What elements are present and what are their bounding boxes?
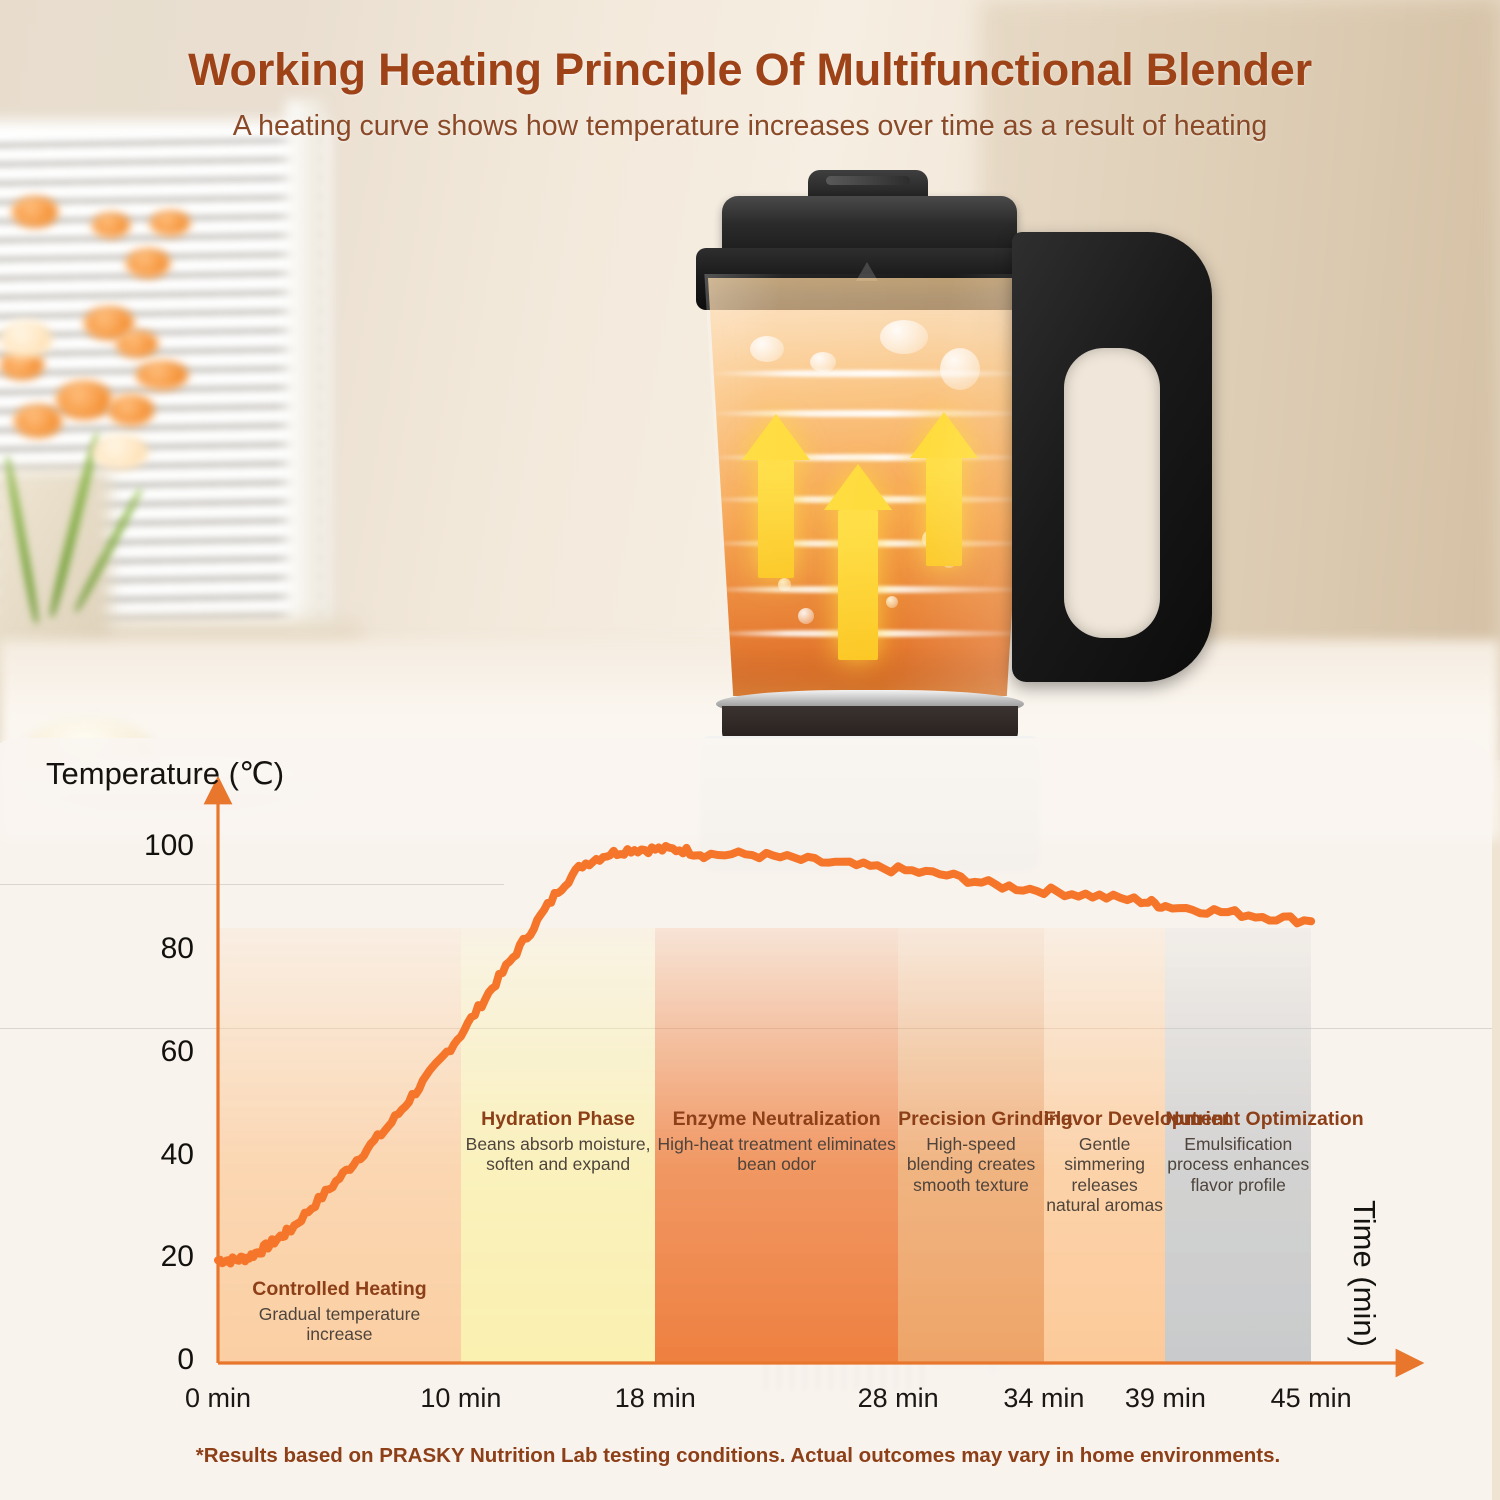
footnote: *Results based on PRASKY Nutrition Lab t… (0, 1444, 1492, 1468)
x-tick-label: 0 min (148, 1383, 288, 1414)
flower-bloom (116, 330, 158, 358)
liquid-bubble (810, 352, 836, 372)
heat-flow-arrow-icon (838, 510, 878, 660)
header: Working Heating Principle Of Multifuncti… (0, 0, 1500, 143)
y-tick-label: 40 (84, 1138, 194, 1172)
page-subtitle: A heating curve shows how temperature in… (0, 96, 1500, 143)
x-tick-label: 34 min (974, 1383, 1114, 1414)
heat-flow-arrow-icon (824, 464, 892, 510)
phase-title: Precision Grinding (898, 1108, 1044, 1131)
liquid-bubble (886, 596, 898, 608)
phase-description: Gentle simmering releasesnatural aromas (1044, 1134, 1165, 1215)
phase-title: Hydration Phase (461, 1108, 655, 1131)
phase-description: High-heat treatment eliminatesbean odor (655, 1134, 898, 1175)
y-axis-title: Temperature (℃) (46, 756, 284, 792)
phase-description: Gradual temperatureincrease (218, 1304, 461, 1345)
page-title: Working Heating Principle Of Multifuncti… (0, 0, 1500, 96)
x-axis-title: Time (min) (1346, 1200, 1382, 1347)
flower-bloom (56, 380, 112, 420)
y-tick-label: 100 (84, 829, 194, 863)
liquid-bubble (798, 608, 814, 624)
heating-curve-chart: Temperature (℃) Time (min) 020406080100 … (0, 738, 1492, 1500)
heat-flow-arrow-icon (926, 456, 962, 566)
flower-bloom (14, 404, 62, 438)
heat-flow-arrow-icon (742, 414, 810, 460)
phase-description: High-speed blending createssmooth textur… (898, 1134, 1044, 1195)
handle-grip-opening (1064, 348, 1160, 638)
flower-bloom (136, 360, 188, 390)
flower-bloom (92, 212, 130, 238)
x-tick-label: 39 min (1095, 1383, 1235, 1414)
chart-card: Temperature (℃) Time (min) 020406080100 … (0, 738, 1492, 1500)
flower-bloom (150, 210, 190, 236)
flower-bloom (126, 248, 170, 278)
x-tick-label: 45 min (1241, 1383, 1381, 1414)
phase-description: Beans absorb moisture,soften and expand (461, 1134, 655, 1175)
liquid-bubble (940, 348, 980, 390)
blender-jar (690, 278, 1050, 696)
y-tick-label: 20 (84, 1240, 194, 1274)
heat-flow-arrow-icon (758, 458, 794, 578)
flower-bloom (12, 196, 58, 228)
phase-title: Controlled Heating (218, 1278, 461, 1301)
flower-bloom (0, 320, 52, 358)
heat-flow-arrow-icon (910, 412, 978, 458)
phase-title: Flavor Development (1044, 1108, 1165, 1131)
x-tick-label: 10 min (391, 1383, 531, 1414)
phase-title: Nutrient Optimization (1165, 1108, 1311, 1131)
flower-bloom (108, 394, 154, 426)
y-tick-label: 80 (84, 932, 194, 966)
liquid-swirl (704, 370, 1035, 377)
window-frame (286, 100, 326, 700)
phase-description: Emulsification process enhancesflavor pr… (1165, 1134, 1311, 1195)
y-tick-label: 0 (84, 1343, 194, 1377)
liquid-bubble (778, 578, 791, 591)
flower-bloom (92, 434, 148, 470)
x-tick-label: 28 min (828, 1383, 968, 1414)
phase-title: Enzyme Neutralization (655, 1108, 898, 1131)
y-tick-label: 60 (84, 1035, 194, 1069)
liquid-bubble (750, 336, 784, 362)
x-tick-label: 18 min (585, 1383, 725, 1414)
liquid-bubble (880, 320, 928, 354)
